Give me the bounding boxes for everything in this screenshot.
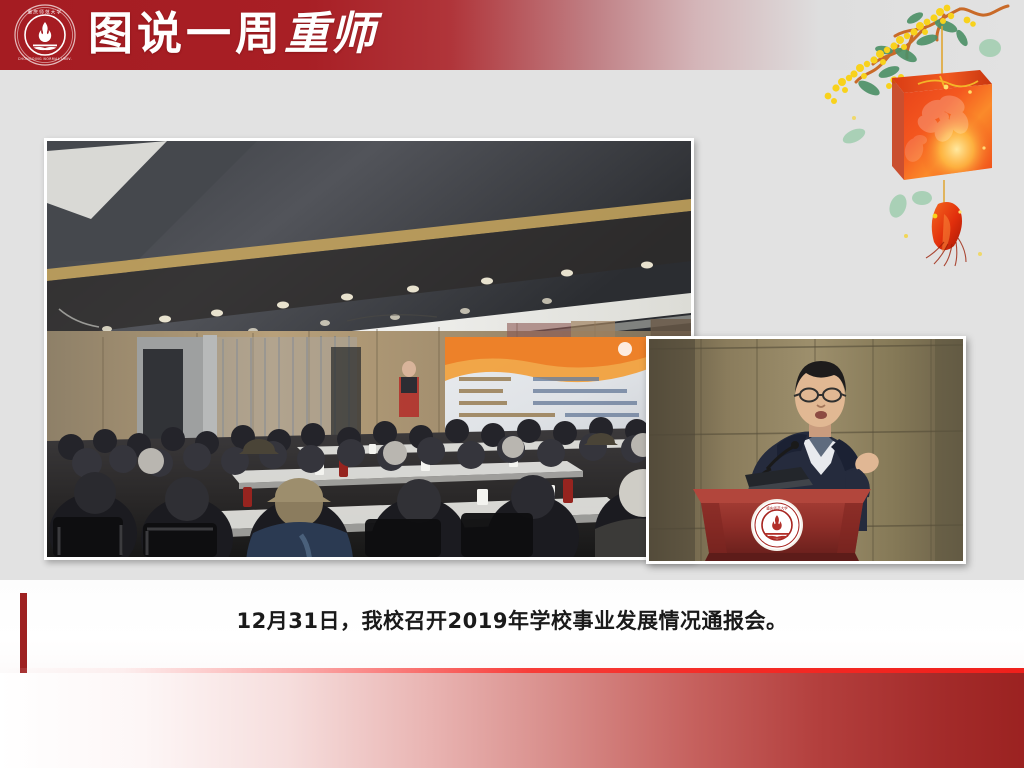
speaker-podium-photo: 重庆师范大学 [646,336,966,564]
caption-text: 12月31日，我校召开2019年学校事业发展情况通报会。 [0,605,1024,635]
page-title-cursive: 重师 [284,7,376,60]
svg-text:重庆师范大学: 重庆师范大学 [28,9,63,16]
svg-text:CHONGQING NORMAL UNIV.: CHONGQING NORMAL UNIV. [18,57,72,61]
header-bar: 重庆师范大学 CHONGQING NORMAL UNIV. 图说一周重师 [0,0,1024,70]
university-emblem-icon: 重庆师范大学 CHONGQING NORMAL UNIV. [13,3,77,67]
slide-canvas: 重庆师范大学 CHONGQING NORMAL UNIV. 图说一周重师 [0,0,1024,768]
page-title: 图说一周重师 [88,3,376,67]
conference-hall-photo [44,138,694,560]
bottom-band [0,673,1024,768]
page-title-main: 图说一周 [88,7,284,60]
svg-text:重庆师范大学: 重庆师范大学 [766,506,788,511]
